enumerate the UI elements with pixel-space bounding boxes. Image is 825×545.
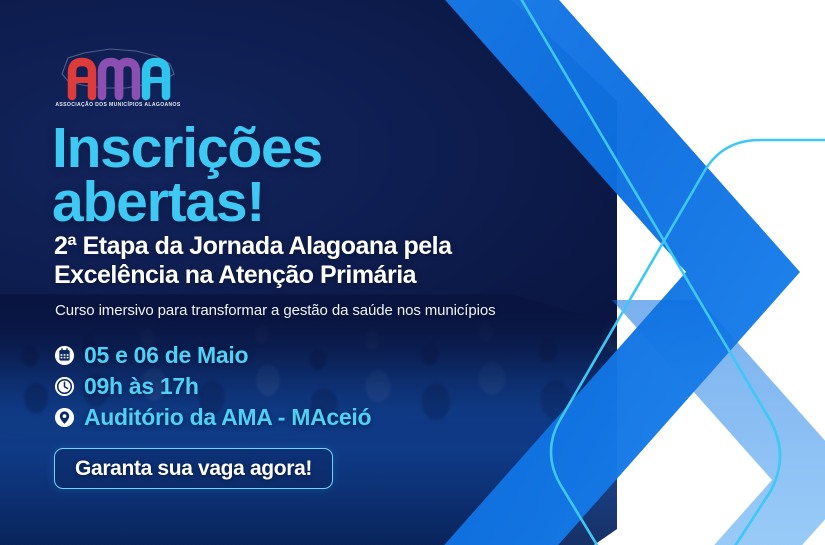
- event-subtitle-line1: 2ª Etapa da Jornada Alagoana pela: [54, 232, 452, 260]
- content-column: ASSOCIAÇÃO DOS MUNICÍPIOS ALAGOANOS Insc…: [52, 0, 572, 545]
- event-subtitle: 2ª Etapa da Jornada Alagoana pela Excelê…: [54, 232, 554, 289]
- event-details-list: 05 e 06 de Maio 09h às 17h Auditório da …: [54, 340, 371, 433]
- location-pin-icon: [54, 407, 75, 428]
- event-subtitle-line2: Excelência na Atenção Primária: [54, 261, 416, 289]
- cta-button[interactable]: Garanta sua vaga agora!: [54, 448, 333, 489]
- promo-banner: ASSOCIAÇÃO DOS MUNICÍPIOS ALAGOANOS Insc…: [0, 0, 825, 545]
- ama-wordmark: [72, 62, 166, 96]
- event-detail-location: Auditório da AMA - MAceió: [54, 402, 371, 433]
- event-time-text: 09h às 17h: [84, 373, 199, 400]
- calendar-icon: [54, 345, 75, 366]
- event-tagline: Curso imersivo para transformar a gestão…: [55, 302, 495, 319]
- event-detail-date: 05 e 06 de Maio: [54, 340, 371, 371]
- event-location-text: Auditório da AMA - MAceió: [84, 404, 371, 431]
- ama-logo-tagline: ASSOCIAÇÃO DOS MUNICÍPIOS ALAGOANOS: [55, 100, 181, 108]
- event-date-text: 05 e 06 de Maio: [84, 342, 248, 369]
- ama-logo: ASSOCIAÇÃO DOS MUNICÍPIOS ALAGOANOS: [52, 44, 184, 110]
- ama-logo-svg: ASSOCIAÇÃO DOS MUNICÍPIOS ALAGOANOS: [52, 44, 184, 110]
- page-headline: Inscrições abertas!: [52, 122, 322, 229]
- clock-icon: [54, 376, 75, 397]
- event-detail-time: 09h às 17h: [54, 371, 371, 402]
